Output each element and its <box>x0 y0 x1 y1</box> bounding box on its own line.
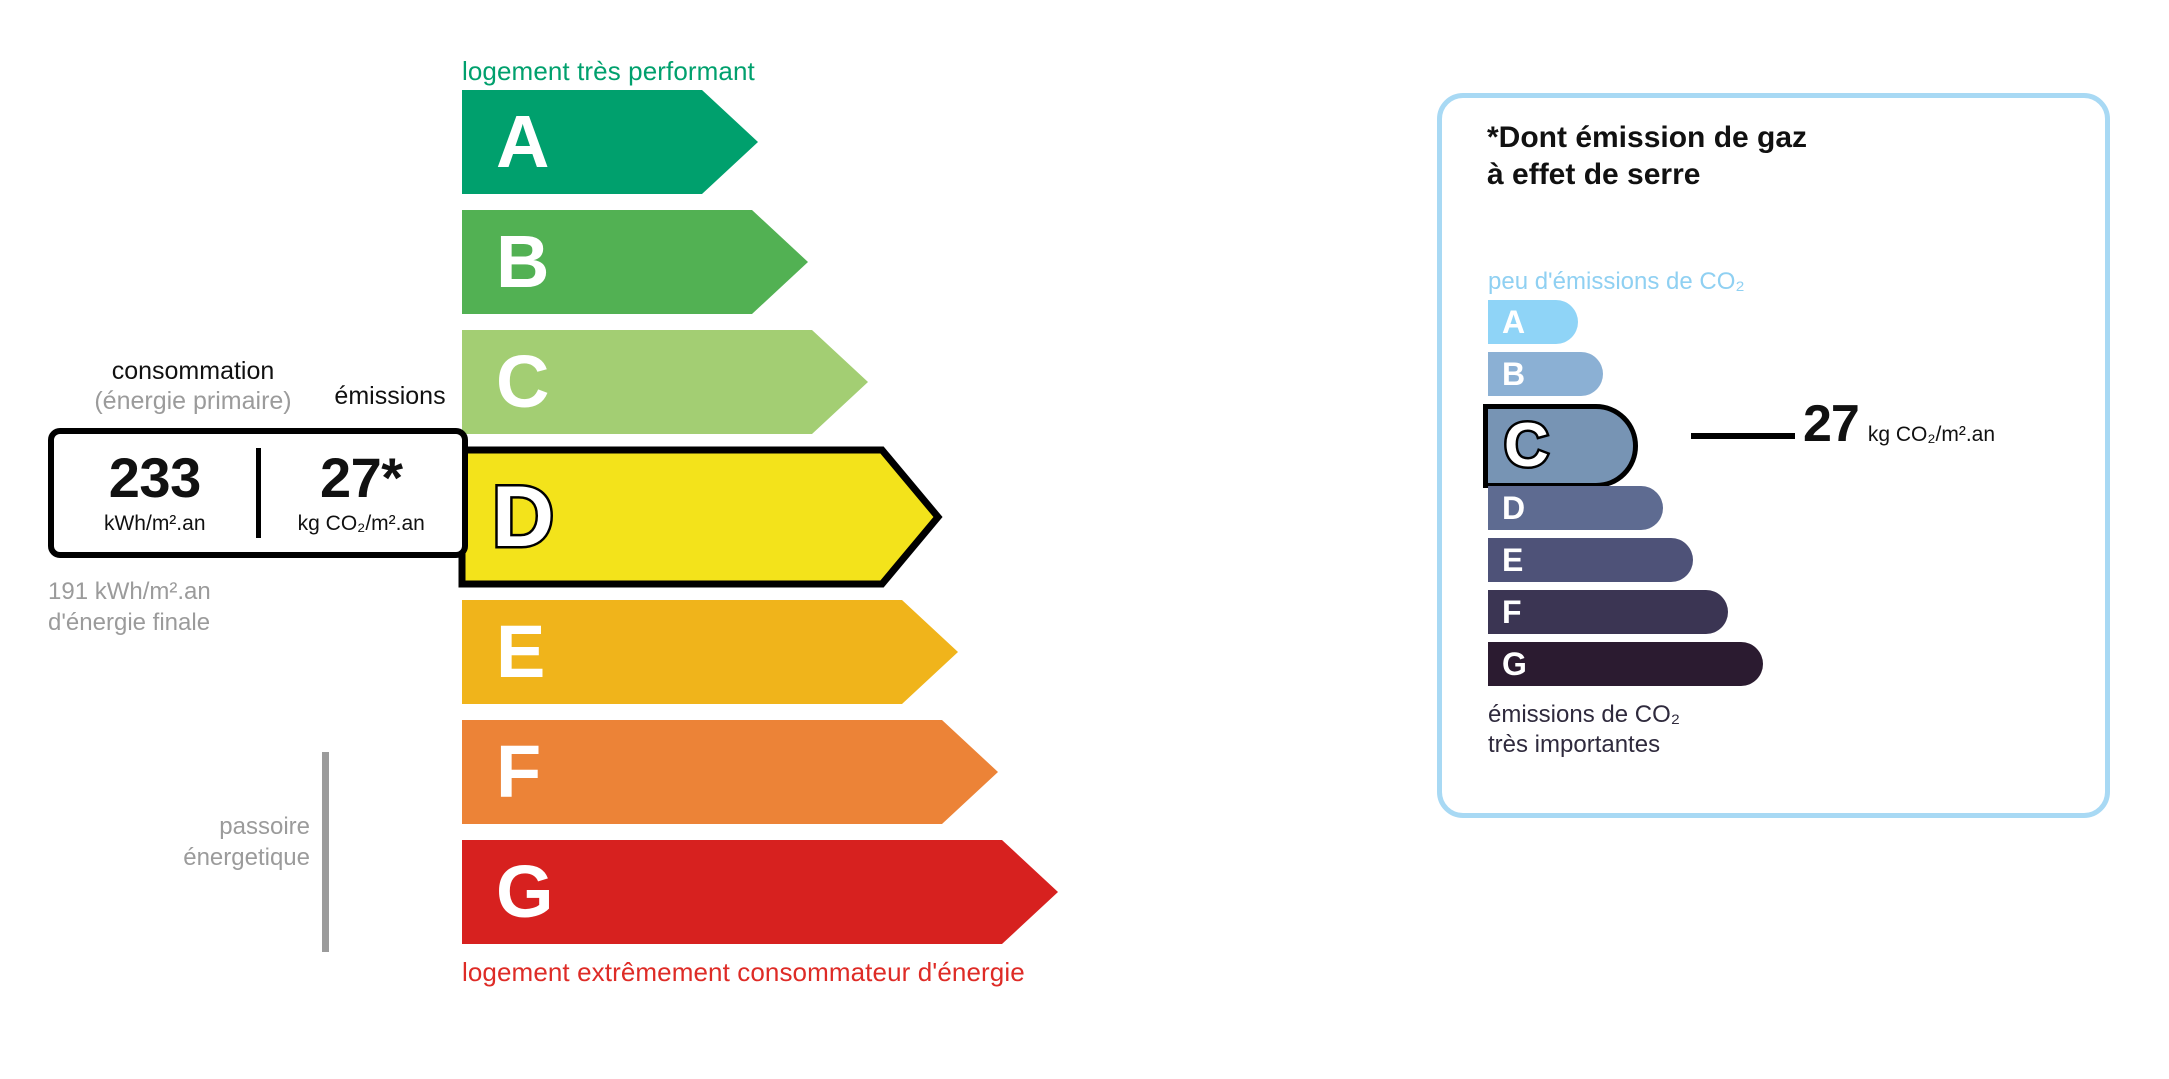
co2-band-e: E <box>1488 538 1693 582</box>
energy-band-letter: G <box>496 855 554 929</box>
co2-band-letter: F <box>1502 596 1522 628</box>
consumption-label-line1: consommation <box>48 356 338 386</box>
co2-top-caption: peu d'émissions de CO₂ <box>1488 268 1745 296</box>
co2-band-letter: A <box>1502 306 1525 338</box>
co2-band-letter: B <box>1502 358 1525 390</box>
consumption-value-box: 233 kWh/m².an 27* kg CO₂/m².an <box>48 428 468 558</box>
final-energy-label: 191 kWh/m².an d'énergie finale <box>48 576 211 638</box>
co2-band-f: F <box>1488 590 1728 634</box>
passoire-line1: passoire <box>110 812 310 843</box>
passoire-rule <box>322 752 329 952</box>
scale-bottom-caption: logement extrêmement consommateur d'éner… <box>462 957 1025 988</box>
co2-panel-title: *Dont émission de gaz à effet de serre <box>1487 120 1807 193</box>
co2-title-line1: *Dont émission de gaz <box>1487 120 1807 157</box>
primary-energy-cell: 233 kWh/m².an <box>54 434 256 552</box>
consumption-label: consommation (énergie primaire) <box>48 356 338 416</box>
consumption-label-line2: (énergie primaire) <box>48 386 338 416</box>
energy-band-letter: D <box>492 474 554 560</box>
energy-band-g: G <box>462 840 1068 944</box>
energy-band-c: C <box>462 330 878 434</box>
co2-band-g: G <box>1488 642 1763 686</box>
energy-band-letter: B <box>496 225 549 299</box>
co2-band-a: A <box>1488 300 1578 344</box>
co2-bottom-line1: émissions de CO₂ <box>1488 700 1680 730</box>
co2-bottom-line2: très importantes <box>1488 730 1680 760</box>
co2-band-d: D <box>1488 486 1663 530</box>
co2-title-line2: à effet de serre <box>1487 157 1807 194</box>
primary-energy-unit: kWh/m².an <box>104 512 206 536</box>
co2-value-number: 27 <box>1803 398 1859 450</box>
final-energy-line2: d'énergie finale <box>48 607 211 638</box>
co2-band-letter: C <box>1504 415 1549 477</box>
final-energy-line1: 191 kWh/m².an <box>48 576 211 607</box>
energy-band-letter: F <box>496 735 541 809</box>
energy-band-a: A <box>462 90 768 194</box>
energy-band-b: B <box>462 210 818 314</box>
primary-energy-value: 233 <box>109 450 201 506</box>
emissions-label: émissions <box>300 382 480 411</box>
passoire-label: passoire énergetique <box>110 812 310 873</box>
energy-band-d: D <box>458 446 944 588</box>
co2-leader-line <box>1691 433 1795 439</box>
energy-band-letter: E <box>496 615 545 689</box>
energy-band-f: F <box>462 720 1008 824</box>
co2-value-unit: kg CO₂/m².an <box>1868 423 1995 447</box>
co2-value-callout: 27 kg CO₂/m².an <box>1803 398 1995 450</box>
co2-band-c: C <box>1483 404 1638 488</box>
energy-band-letter: A <box>496 105 549 179</box>
emissions-unit: kg CO₂/m².an <box>298 512 425 536</box>
co2-band-letter: G <box>1502 648 1527 680</box>
passoire-line2: énergetique <box>110 843 310 874</box>
co2-band-b: B <box>1488 352 1603 396</box>
co2-band-letter: E <box>1502 544 1523 576</box>
co2-band-letter: D <box>1502 492 1525 524</box>
emissions-value-cell: 27* kg CO₂/m².an <box>261 434 463 552</box>
emissions-value: 27* <box>320 450 403 506</box>
energy-band-e: E <box>462 600 968 704</box>
co2-bottom-caption: émissions de CO₂ très importantes <box>1488 700 1680 760</box>
energy-band-letter: C <box>496 345 549 419</box>
